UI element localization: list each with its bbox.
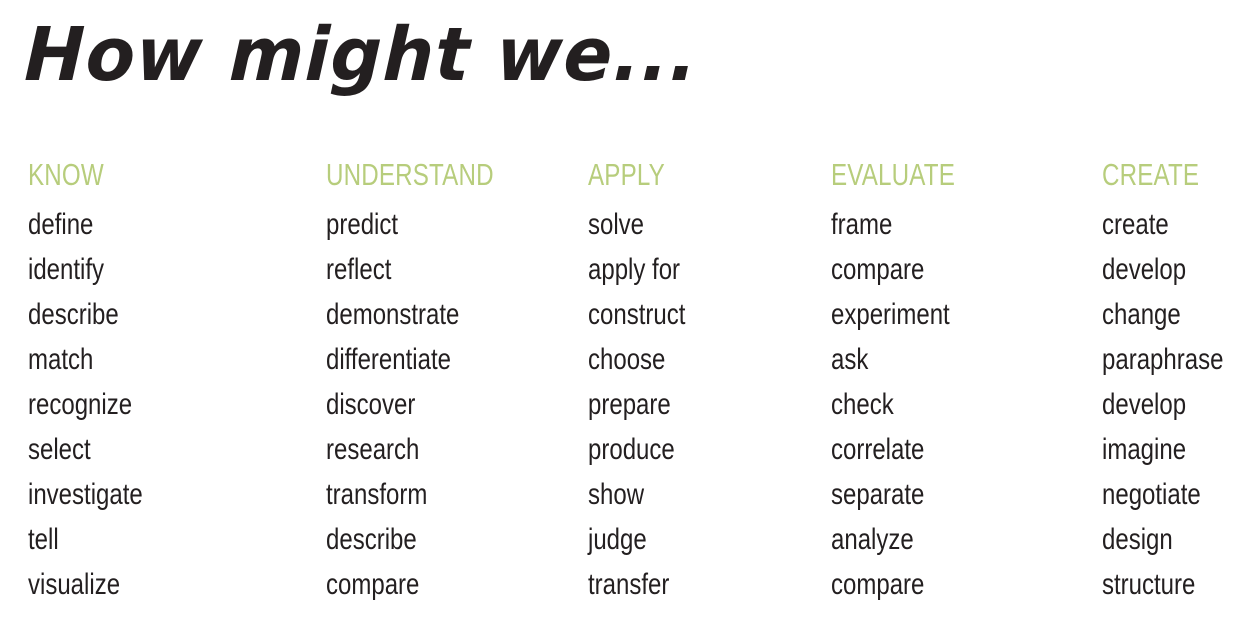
column-header-evaluate: EVALUATE bbox=[831, 158, 1042, 192]
list-item[interactable]: check bbox=[831, 382, 1048, 427]
list-item[interactable]: investigate bbox=[28, 472, 266, 517]
list-item[interactable]: imagine bbox=[1102, 427, 1244, 472]
list-item[interactable]: predict bbox=[326, 202, 536, 247]
list-item[interactable]: transform bbox=[326, 472, 536, 517]
list-item[interactable]: compare bbox=[831, 247, 1048, 292]
list-item[interactable]: describe bbox=[28, 292, 266, 337]
list-item[interactable]: correlate bbox=[831, 427, 1048, 472]
list-item[interactable]: produce bbox=[588, 427, 782, 472]
list-item[interactable]: analyze bbox=[831, 517, 1048, 562]
list-item[interactable]: judge bbox=[588, 517, 782, 562]
list-item[interactable]: define bbox=[28, 202, 266, 247]
column-header-apply: APPLY bbox=[588, 158, 778, 192]
verb-columns: KNOW define identify describe match reco… bbox=[0, 158, 1244, 618]
list-item[interactable]: structure bbox=[1102, 562, 1244, 607]
list-item[interactable]: solve bbox=[588, 202, 782, 247]
list-item[interactable]: ask bbox=[831, 337, 1048, 382]
list-item[interactable]: visualize bbox=[28, 562, 266, 607]
list-item[interactable]: compare bbox=[831, 562, 1048, 607]
page-title: How might we... bbox=[23, 18, 699, 92]
list-item[interactable]: transfer bbox=[588, 562, 782, 607]
poster-canvas: How might we... KNOW define identify des… bbox=[0, 0, 1244, 626]
list-item[interactable]: design bbox=[1102, 517, 1244, 562]
list-item[interactable]: select bbox=[28, 427, 266, 472]
list-item[interactable]: experiment bbox=[831, 292, 1048, 337]
column-header-know: KNOW bbox=[28, 158, 260, 192]
list-item[interactable]: prepare bbox=[588, 382, 782, 427]
column-header-understand: UNDERSTAND bbox=[326, 158, 530, 192]
list-item[interactable]: describe bbox=[326, 517, 536, 562]
list-item[interactable]: paraphrase bbox=[1102, 337, 1244, 382]
list-item[interactable]: develop bbox=[1102, 247, 1244, 292]
word-list-apply: solve apply for construct choose prepare… bbox=[588, 202, 831, 607]
list-item[interactable]: choose bbox=[588, 337, 782, 382]
list-item[interactable]: compare bbox=[326, 562, 536, 607]
word-list-know: define identify describe match recognize… bbox=[28, 202, 326, 607]
list-item[interactable]: change bbox=[1102, 292, 1244, 337]
list-item[interactable]: discover bbox=[326, 382, 536, 427]
list-item[interactable]: reflect bbox=[326, 247, 536, 292]
word-list-understand: predict reflect demonstrate differentiat… bbox=[326, 202, 588, 607]
list-item[interactable]: identify bbox=[28, 247, 266, 292]
list-item[interactable]: recognize bbox=[28, 382, 266, 427]
list-item[interactable]: separate bbox=[831, 472, 1048, 517]
column-apply: APPLY solve apply for construct choose p… bbox=[588, 158, 831, 607]
column-create: CREATE create develop change paraphrase … bbox=[1102, 158, 1244, 607]
list-item[interactable]: construct bbox=[588, 292, 782, 337]
list-item[interactable]: match bbox=[28, 337, 266, 382]
column-evaluate: EVALUATE frame compare experiment ask ch… bbox=[831, 158, 1102, 607]
column-understand: UNDERSTAND predict reflect demonstrate d… bbox=[326, 158, 588, 607]
list-item[interactable]: show bbox=[588, 472, 782, 517]
list-item[interactable]: frame bbox=[831, 202, 1048, 247]
list-item[interactable]: tell bbox=[28, 517, 266, 562]
list-item[interactable]: demonstrate bbox=[326, 292, 536, 337]
word-list-create: create develop change paraphrase develop… bbox=[1102, 202, 1244, 607]
column-header-create: CREATE bbox=[1102, 158, 1244, 192]
column-know: KNOW define identify describe match reco… bbox=[28, 158, 326, 607]
list-item[interactable]: negotiate bbox=[1102, 472, 1244, 517]
list-item[interactable]: develop bbox=[1102, 382, 1244, 427]
list-item[interactable]: apply for bbox=[588, 247, 782, 292]
list-item[interactable]: differentiate bbox=[326, 337, 536, 382]
list-item[interactable]: create bbox=[1102, 202, 1244, 247]
list-item[interactable]: research bbox=[326, 427, 536, 472]
word-list-evaluate: frame compare experiment ask check corre… bbox=[831, 202, 1102, 607]
